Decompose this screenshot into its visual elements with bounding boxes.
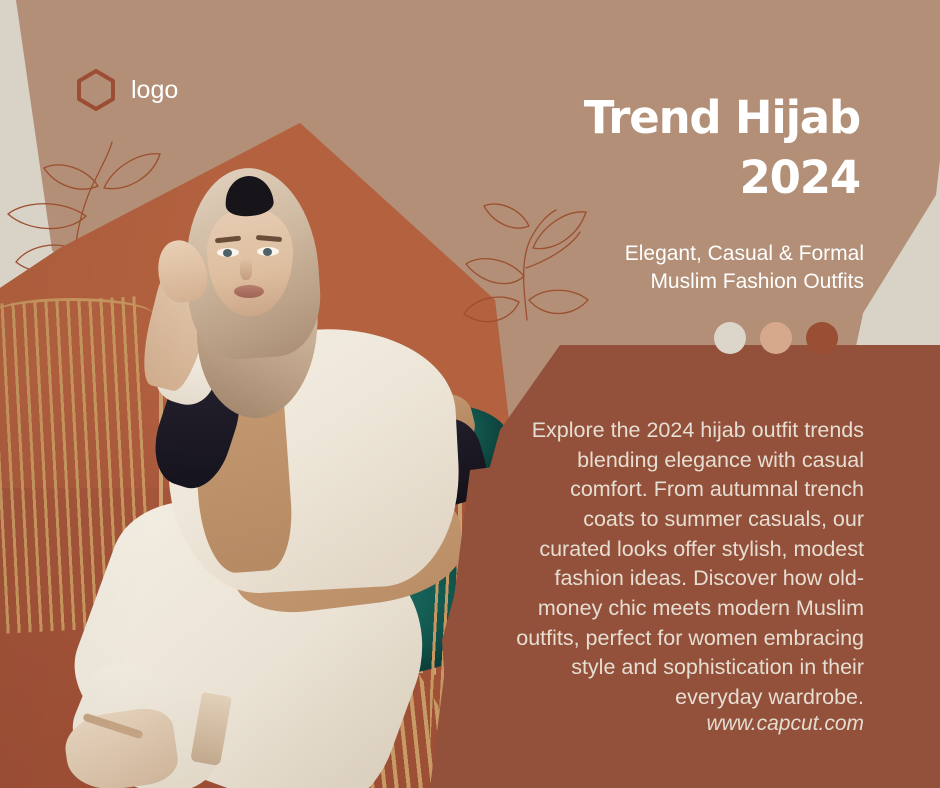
- website-url[interactable]: www.capcut.com: [516, 712, 864, 736]
- swatch-terracotta[interactable]: [806, 322, 838, 354]
- brand-logo[interactable]: logo: [74, 68, 178, 112]
- swatch-blush-tan[interactable]: [760, 322, 792, 354]
- title-line-1: Trend Hijab: [560, 88, 860, 148]
- hexagon-outline-icon: [74, 68, 118, 112]
- swatch-cream[interactable]: [714, 322, 746, 354]
- page-title: Trend Hijab 2024: [560, 88, 860, 208]
- poster-canvas: logo Trend Hijab 2024 Elegant, Casual & …: [0, 0, 940, 788]
- description-paragraph: Explore the 2024 hijab outfit trends ble…: [516, 416, 864, 713]
- subtitle-line-1: Elegant, Casual & Formal: [520, 240, 864, 268]
- title-line-2: 2024: [560, 148, 860, 208]
- subtitle-line-2: Muslim Fashion Outfits: [520, 268, 864, 296]
- description-block: Explore the 2024 hijab outfit trends ble…: [516, 416, 864, 713]
- color-swatch-group: [714, 322, 838, 354]
- logo-label: logo: [131, 76, 178, 105]
- subtitle: Elegant, Casual & Formal Muslim Fashion …: [520, 240, 864, 296]
